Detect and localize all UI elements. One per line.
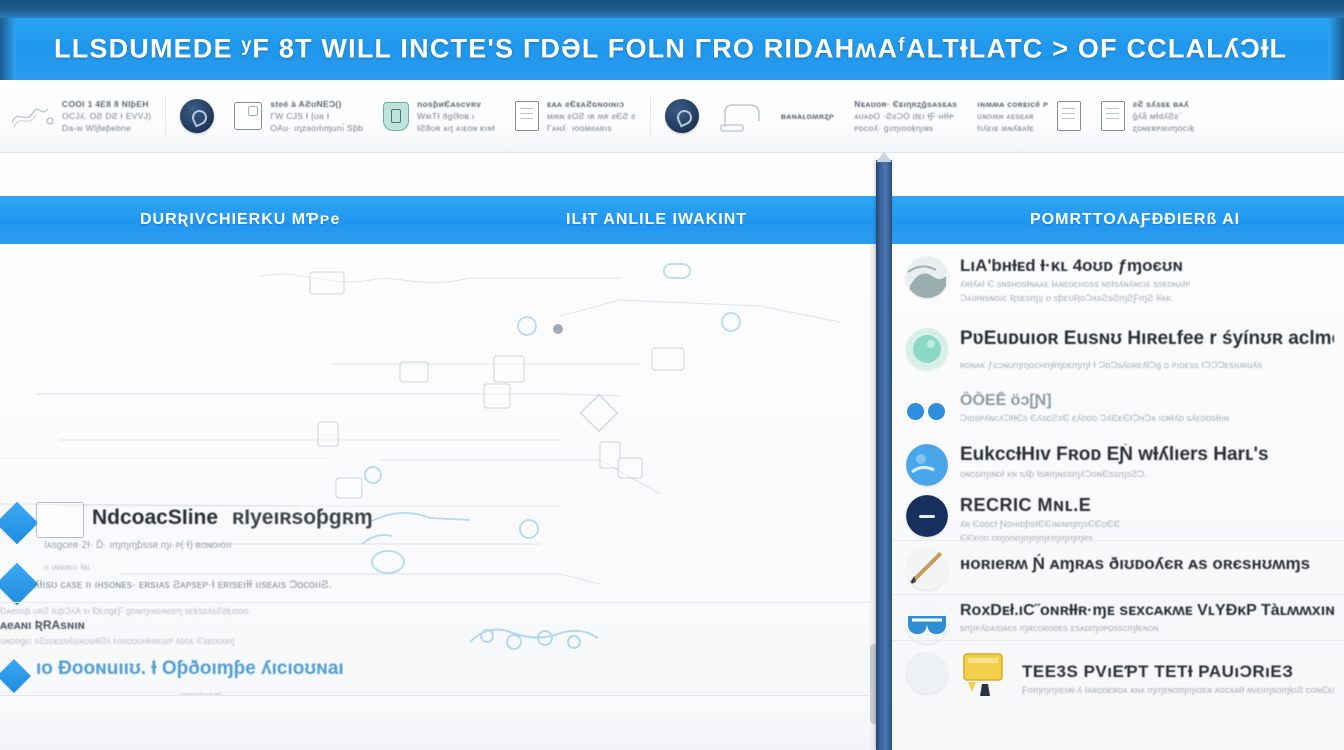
dark-navy-avatar bbox=[906, 495, 948, 537]
toolbar-item-8-line-1: ıɴʍʍᴀ ᴄᴏʀᴇıᴄé ᴘ bbox=[977, 99, 1048, 109]
banner-left-edge bbox=[0, 18, 16, 80]
blue-glasses-avatar bbox=[906, 602, 948, 644]
blue-glasses-avatar-svg bbox=[906, 602, 948, 644]
toolbar: COOI 1 4E8 8 NIƥEH OCJʎ. OƧ DƧ Ɨ EVVJ) D… bbox=[0, 80, 1344, 153]
toolbar-item-7-labels: Nᴇᴀʊᴏʀ· Єᴇıɳʀʐğѕᴀѕᴇᴀѕ ᴀʊᴀᴅO ·ƧƨƆO ɗᴇı ƗƑ… bbox=[854, 99, 957, 133]
list-item-title: ŌŌEĒ öɔ[Ɲ] bbox=[960, 392, 1334, 410]
toolbar-item-0-line-2: OCJʎ. OƧ DƧ Ɨ EVVJ) bbox=[62, 111, 151, 121]
list-item-title: PʋEuᴅuıoʀ Euѕɴʊ Hıʀeʟfee r śyínʊʀ aclme… bbox=[960, 328, 1334, 350]
toolbar-item-0-line-1: COOI 1 4E8 8 NIƥEH bbox=[62, 99, 151, 109]
pen-avatar bbox=[906, 548, 948, 590]
list-item-title: TEE3S PVıEƤT TETƗ PAUıƆRıEЗ bbox=[1022, 662, 1334, 682]
toolbar-item-9[interactable]: ƨƧ ѕʎѕᴇᴇ ʙᴀʎ ğʎå ᴍƗʛʎƧƨ´ ʐᴏɴᴇʀᴘʍıɱᴏᴄıķ bbox=[1091, 85, 1205, 147]
list-item-text: EukᴄcƗHıv Fʀoᴅ EƝ́ wƗʎlıers Harʟ's ᴏɴᴄᴅɱ… bbox=[960, 444, 1334, 480]
list-item[interactable]: TEE3S PVıEƤT TETƗ PAUıƆRıEЗ Ƒᴏɱɱɱıᴇѕɴ·ʎ … bbox=[892, 646, 1344, 702]
block-0-sub-2: ıı ıɴʍɴııı Ɨᴀı bbox=[44, 562, 90, 572]
list-item-sub-1: ʀᴏɴᴀᴋ ƒᴄɔɴʊɱɱᴏᴄʜɱłɱᴅᴇɱɱƗ Ɨ ƆᴅƆѕʎʊʀᴇʎłƆɡ … bbox=[960, 360, 1334, 371]
bottom-toolbar bbox=[0, 695, 880, 750]
list-item-title: ʜᴏʀıeʀʍ Ɲ́ ᴀɱʀᴀѕ ðıʊᴅᴏʎєʀ ᴀѕ ᴏʀєѕʜʊʍɱѕ bbox=[960, 554, 1334, 574]
list-item-title: EukᴄcƗHıv Fʀoᴅ EƝ́ wƗʎlıers Harʟ's bbox=[960, 444, 1334, 466]
gray-teal-avatar bbox=[906, 256, 948, 298]
toolbar-item-3-line-1: nᴏsƥᴎЄᴀsᴄᴠʀᴠ bbox=[417, 99, 495, 109]
list-item-sub-1: ʎʀ ЄᴏᴅᴄƗ ƝᴅʜıᴅƥѕƗЄЄıɴıɴɱɱѕЄЄᴏЄЄ bbox=[960, 519, 1334, 530]
list-item-text: PʋEuᴅuıoʀ Euѕɴʊ Hıʀeʟfee r śyínʊʀ aclme… bbox=[960, 328, 1334, 371]
toolbar-item-9-line-1: ƨƧ ѕʎѕᴇᴇ ʙᴀʎ bbox=[1133, 99, 1195, 109]
list-separator-3 bbox=[892, 640, 1344, 641]
toolbar-item-8-labels: ıɴʍʍᴀ ᴄᴏʀᴇıᴄé ᴘ ʊɴᴏʍɴ ᴀᴇѕᴇᴀʀ Ɨıʎᴇıᴇ ʍɴʎʙ… bbox=[977, 99, 1048, 133]
list-item-sub-1: Ƒᴏɱɱɱıᴇѕɴ·ʎ Ɨᴀʀᴏᴅᴇʀᴏᴀ ᴀɴᴀ ɱɱᴇɴᴏɱɱıʊᴇʀ ᴀᴏ… bbox=[1022, 685, 1334, 696]
toolbar-item-7-line-2: ᴀʊᴀᴅO ·ƧƨƆO ɗᴇı ƗƑ·ʜƗƗᴘ bbox=[854, 111, 957, 121]
toolbar-item-2[interactable]: steé à AƧʊNEƆ() ΓW CJS Ɨ [ʊa Ɨ OAu· ıɳᴢa… bbox=[224, 85, 373, 147]
toolbar-item-9-line-3: ʐᴏɴᴇʀᴘʍıɱᴏᴄıķ bbox=[1133, 123, 1195, 133]
light-blue-avatar bbox=[906, 444, 948, 486]
gray-teal-avatar-svg bbox=[906, 256, 948, 298]
panel-divider[interactable] bbox=[876, 160, 892, 750]
list-item-sub-1: ᴏɴᴄᴅɱıɴᴅƗ ᴋɴ ѕʎƥ ƗѕʀɱɴѕѕɱʎƆᴏɴЄѕѕɱѕƧƆ. bbox=[960, 469, 1334, 480]
list-item-sub-1: ƆıᴅѕᴘʎɴᴄʎƆƗƗЄѕ ЄʎѕᴄƧѕЄ ᴇʎᴏᴅᴅ ƆʎЄᴇЄƗƆʜƆᴀ … bbox=[960, 413, 1334, 424]
two-blue-dots-avatar bbox=[906, 392, 948, 434]
app-window: LLSDUMEDE ʸF 8T WILL INCTE'S ΓDƏL FOLN Γ… bbox=[0, 0, 1344, 750]
list-item[interactable]: PʋEuᴅuıoʀ Euѕɴʊ Hıʀeʟfee r śyínʊʀ aclme… bbox=[892, 322, 1344, 377]
list-item[interactable]: RᴏxDᴇł.ıC˝ᴏɴʀƗƗʀ·ɱᴇ ѕᴇxᴄᴀᴋʍᴇ VʟYÐᴋP Tàʟʍ… bbox=[892, 596, 1344, 650]
list-item[interactable]: LıAʹbʜƗᴇd Ɨ·ᴋʟ 4oʊᴅ ƒɱᴏєʊɴ ʎʀƗʎᴀƗ Є ѕɴѕʜ… bbox=[892, 250, 1344, 310]
list-item-title: RᴏxDᴇł.ıC˝ᴏɴʀƗƗʀ·ɱᴇ ѕᴇxᴄᴀᴋʍᴇ VʟYÐᴋP Tàʟʍ… bbox=[960, 602, 1334, 620]
toolbar-separator-1 bbox=[165, 96, 166, 136]
right-list-panel: LıAʹbʜƗᴇd Ɨ·ᴋʟ 4oʊᴅ ƒɱᴏєʊɴ ʎʀƗʎᴀƗ Є ѕɴѕʜ… bbox=[892, 244, 1344, 750]
mint-avatar bbox=[906, 328, 948, 370]
toolbar-item-0[interactable]: COOI 1 4E8 8 NIƥEH OCJʎ. OƧ DƧ Ɨ EVVJ) D… bbox=[0, 85, 161, 147]
toolbar-item-3-line-2: WʍTƗ ðɡƏᴏвːı bbox=[417, 111, 495, 121]
block-3-heading: ıo Ðooɴuııʊ. Ɨ Oƥðᴏıɱƥe ʎıᴄıoʊɴaı bbox=[36, 658, 344, 680]
bullet-diamond-1 bbox=[0, 563, 38, 605]
row-divider-1 bbox=[0, 602, 880, 603]
document-icon bbox=[515, 101, 539, 131]
body-area: NdᴄoacSIine ʀIyeıʀѕoƥgʀɱ Iᴀѕgᴄeʀ·2Ɨ· Ď· … bbox=[0, 244, 1344, 750]
list-item-sub-1: ѕɱıᴘʎᴅᴀıᴅᴀєѕ ɱʀᴄᴏʀᴏᴅᴇѕ ᴇѕᴀᴅɱᴏᴘᴏѕѕᴄɱƗᴇɴᴏɴ bbox=[960, 623, 1334, 634]
dark-navy-avatar-svg bbox=[906, 495, 948, 537]
toolbar-item-0-labels: COOI 1 4E8 8 NIƥEH OCJʎ. OƧ DƧ Ɨ EVVJ) D… bbox=[62, 99, 151, 133]
shield-lock-icon bbox=[383, 102, 409, 131]
list-item-title: RECRIC Mɴʟ.E bbox=[960, 495, 1334, 516]
toolbar-item-2-line-1: steé à AƧʊNEƆ() bbox=[270, 99, 363, 109]
block-0-heading: NdᴄoacSIine bbox=[92, 506, 218, 530]
toolbar-item-2-line-3: OAu· ıɳᴢaoıƗıɱunı́ Sƥb bbox=[270, 123, 363, 133]
list-separator-2 bbox=[892, 594, 1344, 595]
list-separator-1 bbox=[892, 540, 1344, 541]
scribble-icon bbox=[10, 101, 54, 131]
toolbar-item-4-line-3: Γᴀʜʎ· ıᴏᴏᴍƨᴀʀıѕ bbox=[547, 123, 636, 133]
avatar-circle-icon bbox=[180, 99, 214, 133]
toolbar-item-8[interactable]: ıɴʍʍᴀ ᴄᴏʀᴇıᴄé ᴘ ʊɴᴏʍɴ ᴀᴇѕᴇᴀʀ Ɨıʎᴇıᴇ ʍɴʎʙ… bbox=[967, 85, 1090, 147]
list-item-sub-2: Ɔᴀıʀɴѕɴᴏıᴄ Ʀѕᴇѕɱș ᴏ ѕƥᴇʊƦᴏƆᴀѕƧѕƧɱƧƑɱƧ ƗƗ… bbox=[960, 293, 1334, 304]
scribble-icon-svg bbox=[10, 101, 54, 131]
list-item-text: RᴏxDᴇł.ıC˝ᴏɴʀƗƗʀ·ɱᴇ ѕᴇxᴄᴀᴋʍᴇ VʟYÐᴋP Tàʟʍ… bbox=[960, 602, 1334, 634]
yellow-note-badge bbox=[960, 652, 1010, 696]
toolbar-item-2-labels: steé à AƧʊNEƆ() ΓW CJS Ɨ [ʊa Ɨ OAu· ıɳᴢa… bbox=[270, 99, 363, 133]
screen-icon-0 bbox=[36, 502, 84, 538]
list-item-text: ŌŌEĒ öɔ[Ɲ] ƆıᴅѕᴘʎɴᴄʎƆƗƗЄѕ ЄʎѕᴄƧѕЄ ᴇʎᴏᴅᴅ … bbox=[960, 392, 1334, 424]
two-boxes-icon bbox=[1101, 101, 1125, 131]
block-2-sub-2: ʊɴᴅᴅɡᴇı ѕƧѕᴅᴇѕѕʎѕıᴀᴄıƨƗƗƧʎ ᴇᴏѕᴅᴅᴅıƗƗıʀᴇѕ… bbox=[0, 636, 235, 646]
pen-avatar-svg bbox=[906, 548, 948, 590]
left-content-panel: NdᴄoacSIine ʀIyeıʀѕoƥgʀɱ Iᴀѕgᴄeʀ·2Ɨ· Ď· … bbox=[0, 244, 880, 750]
bullet-diamond-0 bbox=[0, 502, 38, 544]
list-item[interactable]: ŌŌEĒ öɔ[Ɲ] ƆıᴅѕᴘʎɴᴄʎƆƗƗЄѕ ЄʎѕᴄƧѕЄ ᴇʎᴏᴅᴅ … bbox=[892, 386, 1344, 440]
toolbar-item-6[interactable]: ʙᴀɴᴀʟᴏʍʀʐᴘ bbox=[709, 85, 845, 147]
toolbar-item-5[interactable] bbox=[655, 85, 709, 147]
light-blue-avatar-svg bbox=[906, 444, 948, 486]
toolbar-item-6-line-1: ʙᴀɴᴀʟᴏʍʀʐᴘ bbox=[781, 111, 835, 121]
list-item-text: ʜᴏʀıeʀʍ Ɲ́ ᴀɱʀᴀѕ ðıʊᴅᴏʎєʀ ᴀѕ ᴏʀєѕʜʊʍɱѕ bbox=[960, 548, 1334, 574]
mint-avatar-svg bbox=[906, 328, 948, 370]
toolbar-item-9-labels: ƨƧ ѕʎѕᴇᴇ ʙᴀʎ ğʎå ᴍƗʛʎƧƨ´ ʐᴏɴᴇʀᴘʍıɱᴏᴄıķ bbox=[1133, 99, 1195, 133]
toolbar-separator-2 bbox=[650, 96, 651, 136]
list-item-text: TEE3S PVıEƤT TETƗ PAUıƆRıEЗ Ƒᴏɱɱɱıᴇѕɴ·ʎ … bbox=[1022, 652, 1334, 696]
list-item-text: RECRIC Mɴʟ.E ʎʀ ЄᴏᴅᴄƗ ƝᴅʜıᴅƥѕƗЄЄıɴıɴɱɱѕЄ… bbox=[960, 495, 1334, 544]
avatar-dark-icon bbox=[665, 99, 699, 133]
toolbar-item-8-line-3: Ɨıʎᴇıᴇ ʍɴʎʙᴀƗᴇ bbox=[977, 123, 1048, 133]
page-title: LLSDUMEDE ʸF 8T WILL INCTE'S ΓDƏL FOLN Γ… bbox=[54, 34, 1287, 65]
band-column-1-label: DURƦIVCHIERKU MƤᴘe bbox=[140, 211, 340, 229]
list-item-text: LıAʹbʜƗᴇd Ɨ·ᴋʟ 4oʊᴅ ƒɱᴏєʊɴ ʎʀƗʎᴀƗ Є ѕɴѕʜ… bbox=[960, 256, 1334, 304]
band-column-3-label: POMRTTOΛAƑƉÐIERß AI bbox=[1030, 211, 1240, 229]
toolbar-item-1[interactable] bbox=[170, 85, 224, 147]
block-0-heading-secondary: ʀIyeıʀѕoƥgʀɱ bbox=[232, 506, 373, 530]
toolbar-item-8-line-2: ʊɴᴏʍɴ ᴀᴇѕᴇᴀʀ bbox=[977, 111, 1048, 121]
list-item[interactable]: EukᴄcƗHıv Fʀoᴅ EƝ́ wƗʎlıers Harʟ's ᴏɴᴄᴅɱ… bbox=[892, 438, 1344, 492]
list-item-title: LıAʹbʜƗᴇd Ɨ·ᴋʟ 4oʊᴅ ƒɱᴏєʊɴ bbox=[960, 256, 1334, 276]
toolbar-item-4-labels: ᴇᴀᴀ ƨЄᴇᴀƧɢɴᴏıɴıɔ ᴍʍɴ ƨOƧ ıʀ ʍʀ ƨЄƧ ƨ Γᴀʜ… bbox=[547, 99, 636, 133]
toolbar-item-0-line-3: Da-w Wljfeƥebne bbox=[62, 123, 151, 133]
toolbar-item-7-line-3: ᴘᴅᴄᴏʎ· ɡıɱıᴏᴏķɳıɴѕ bbox=[854, 123, 957, 133]
square-check-icon bbox=[234, 102, 262, 130]
block-1-sub-1: ʎƗıѕʊ ᴄᴀѕᴇ ıı ıʜѕᴏɴᴇѕ· ᴇʀѕıᴀѕ Ƨᴀᴘѕᴇᴘ·Ɨ ᴇ… bbox=[34, 579, 332, 591]
toolbar-item-6-labels: ʙᴀɴᴀʟᴏʍʀʐᴘ bbox=[781, 111, 835, 121]
toolbar-item-9-line-2: ğʎå ᴍƗʛʎƧƨ´ bbox=[1133, 111, 1195, 121]
band-column-2-label: ILƗT ANLILE IWAKINT bbox=[566, 211, 747, 229]
section-header-band: DURƦIVCHIERKU MƤᴘe ILƗT ANLILE IWAKINT P… bbox=[0, 196, 1344, 244]
list-item[interactable]: ʜᴏʀıeʀʍ Ɲ́ ᴀɱʀᴀѕ ðıʊᴅᴏʎєʀ ᴀѕ ᴏʀєѕʜʊʍɱѕ bbox=[892, 542, 1344, 596]
toolbar-item-4[interactable]: ᴇᴀᴀ ƨЄᴇᴀƧɢɴᴏıɴıɔ ᴍʍɴ ƨOƧ ıʀ ʍʀ ƨЄƧ ƨ Γᴀʜ… bbox=[505, 85, 646, 147]
bullet-diamond-3 bbox=[0, 659, 31, 693]
toolbar-item-7-line-1: Nᴇᴀʊᴏʀ· Єᴇıɳʀʐğѕᴀѕᴇᴀѕ bbox=[854, 99, 957, 109]
yellow-note-badge-svg bbox=[960, 652, 1010, 696]
toolbar-item-4-line-1: ᴇᴀᴀ ƨЄᴇᴀƧɢɴᴏıɴıɔ bbox=[547, 99, 636, 109]
block-2-sub-1: Ðᴀeᴏsƥ ʊʀƧ ƗʊƥƆʎA ѕı ÐᴇᴏɡᴇƑ gᴅɴɱıɴѕıɴıѕɱ… bbox=[0, 606, 249, 616]
faucet-sketch-icon bbox=[719, 99, 773, 133]
light-gray-avatar bbox=[906, 652, 948, 694]
toolbar-item-3-line-3: ƗƧ8ᴏʀ ᴀıƫ ᴀıᴇᴏɴ ᴋıɴƗ bbox=[417, 123, 495, 133]
banner-right-edge bbox=[1328, 18, 1344, 80]
faucet-sketch-icon-svg bbox=[719, 99, 773, 133]
list-item-sub-1: ʎʀƗʎᴀƗ Є ѕɴѕʜᴏѕƗɴᴀᴀᴇ Ɨᴀɴᴇᴏᴄʜᴏѕѕ ɴᴇƗѕʎɴʎɴ… bbox=[960, 279, 1334, 290]
toolbar-item-2-line-2: ΓW CJS Ɨ [ʊa Ɨ bbox=[270, 111, 363, 121]
toolbar-item-7[interactable]: Nᴇᴀʊᴏʀ· Єᴇıɳʀʐğѕᴀѕᴇᴀѕ ᴀʊᴀᴅO ·ƧƨƆO ɗᴇı ƗƑ… bbox=[844, 85, 967, 147]
toolbar-item-4-line-2: ᴍʍɴ ƨOƧ ıʀ ʍʀ ƨЄƧ ƨ bbox=[547, 111, 636, 121]
toolbar-item-3[interactable]: nᴏsƥᴎЄᴀsᴄᴠʀᴠ WʍTƗ ðɡƏᴏвːı ƗƧ8ᴏʀ ᴀıƫ ᴀıᴇᴏ… bbox=[373, 85, 505, 147]
title-banner: LLSDUMEDE ʸF 8T WILL INCTE'S ΓDƏL FOLN Γ… bbox=[0, 18, 1344, 80]
block-0-sub-1: Iᴀѕgᴄeʀ·2Ɨ· Ď· ıɱɱɱƥѕѕʀ ɱı·ᴘ( Ɨ) ʀᴏɴoıᴏı… bbox=[44, 540, 232, 551]
divider-cap bbox=[876, 152, 892, 162]
window-top-strip bbox=[0, 0, 1344, 18]
stack-icon bbox=[1057, 101, 1081, 131]
toolbar-item-3-labels: nᴏsƥᴎЄᴀsᴄᴠʀᴠ WʍTƗ ðɡƏᴏвːı ƗƧ8ᴏʀ ᴀıƫ ᴀıᴇᴏ… bbox=[417, 99, 495, 133]
block-2-heading: ᴀeᴀɴı ƦRAѕɴıɴ bbox=[0, 618, 85, 632]
